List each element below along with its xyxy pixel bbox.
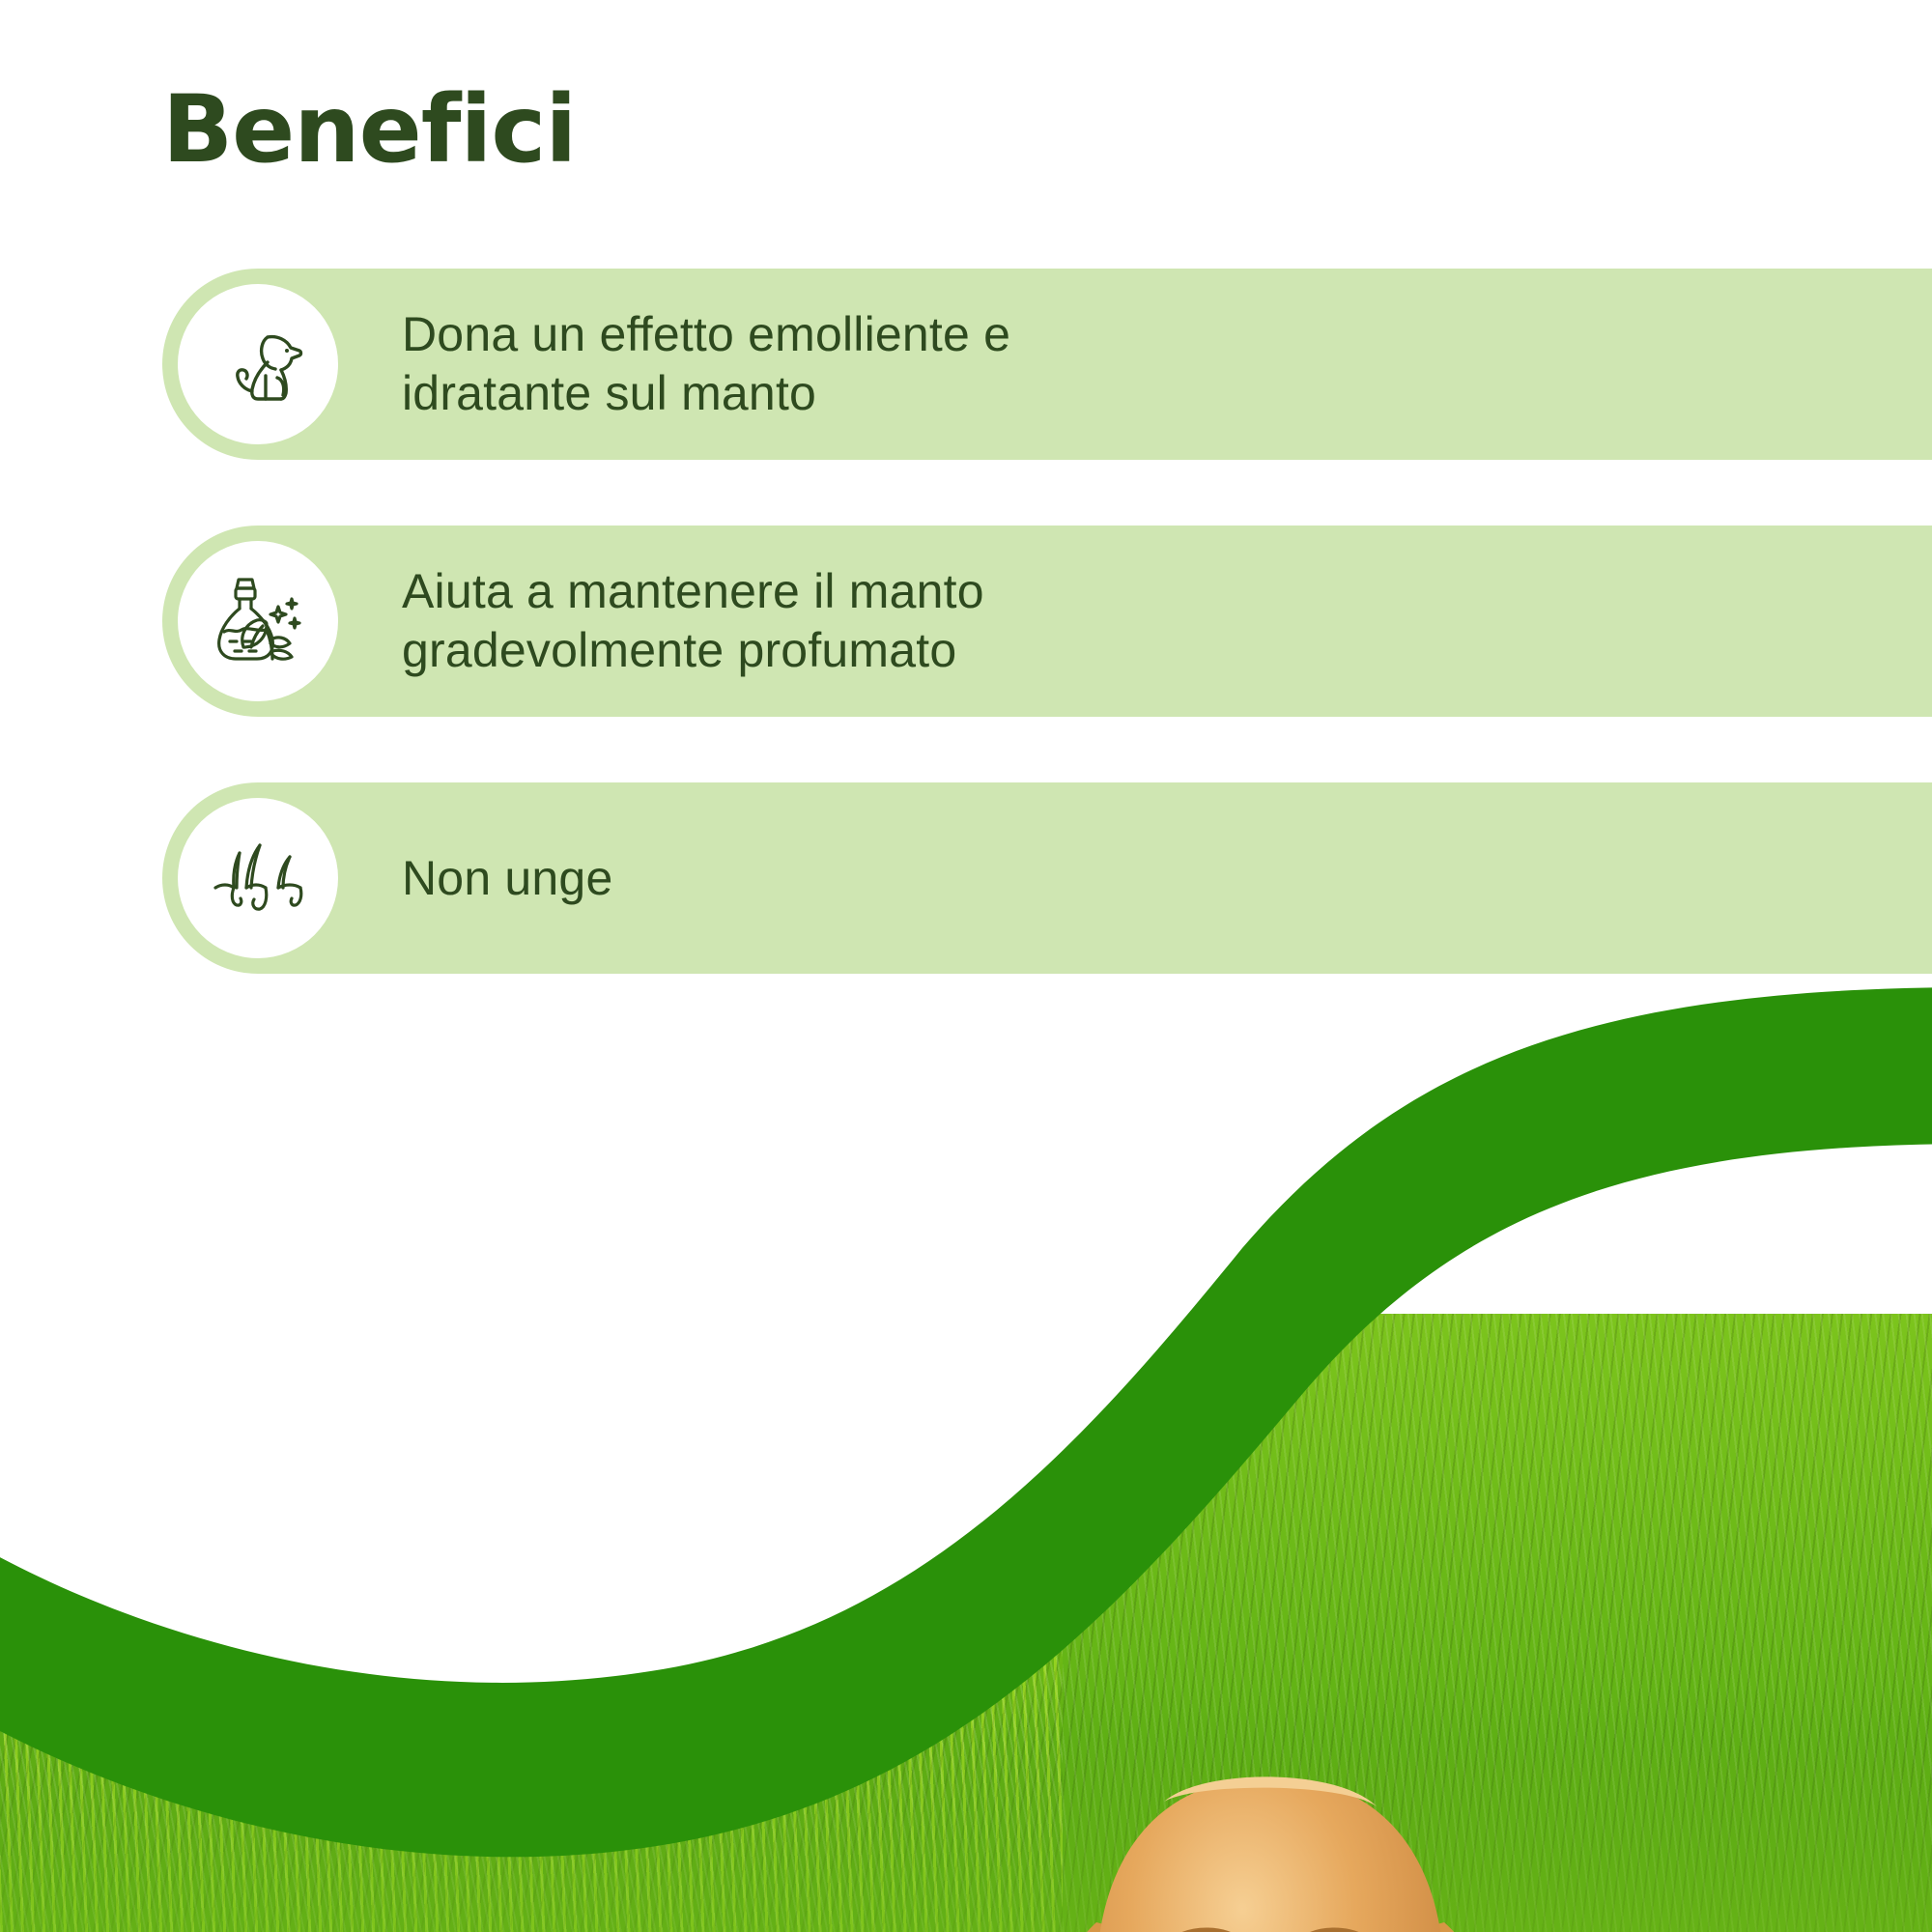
sitting-dog-icon	[178, 284, 338, 444]
benefit-row: Non unge	[162, 782, 1932, 974]
golden-retriever-photo	[1005, 1715, 1932, 1932]
bottom-artwork	[0, 947, 1932, 1932]
poster-canvas: Benefici Dona un effetto emoll	[0, 0, 1932, 1932]
dog-head	[1096, 1777, 1444, 1932]
fragrance-flask-leaf-icon	[178, 541, 338, 701]
benefit-text: Dona un effetto emolliente e idratante s…	[402, 305, 1010, 423]
benefit-row: Aiuta a mantenere il manto gradevolmente…	[162, 526, 1932, 717]
page-title: Benefici	[162, 81, 576, 179]
benefit-text: Aiuta a mantenere il manto gradevolmente…	[402, 562, 984, 680]
hair-follicle-icon	[178, 798, 338, 958]
benefit-row: Dona un effetto emolliente e idratante s…	[162, 269, 1932, 460]
benefit-text: Non unge	[402, 849, 612, 908]
